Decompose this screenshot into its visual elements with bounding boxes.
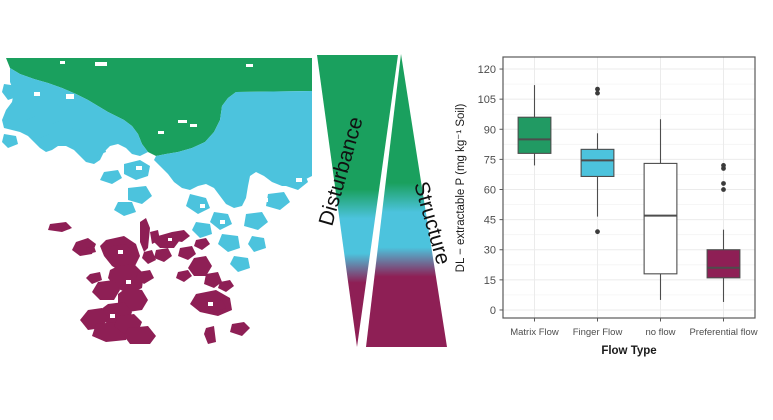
y-tick-label: 90 [484, 124, 496, 136]
outlier-point [721, 181, 726, 186]
x-tick-label-matrix-flow: Matrix Flow [510, 327, 559, 338]
y-tick-label: 0 [490, 305, 496, 317]
y-axis-title: DL − extractable P (mg kg⁻¹ Soil) [455, 103, 467, 272]
y-tick-label: 30 [484, 245, 496, 257]
y-tick-label: 15 [484, 275, 496, 287]
y-tick-label: 120 [478, 64, 496, 76]
boxplot-chart-panel: 0153045607590105120 Matrix FlowFinger Fl… [452, 40, 770, 370]
y-tick-label: 105 [478, 94, 496, 106]
y-tick-label: 60 [484, 185, 496, 197]
y-tick-label: 45 [484, 215, 496, 227]
x-tick-label-preferential-flow: Preferential flow [689, 327, 757, 338]
box [644, 163, 677, 273]
outlier-point [595, 229, 600, 234]
classified-raster-map-panel [0, 36, 312, 344]
map-svg [0, 36, 312, 344]
box [707, 250, 740, 278]
outlier-point [721, 163, 726, 168]
boxplot-svg: 0153045607590105120 Matrix FlowFinger Fl… [452, 40, 770, 370]
figure-root: Disturbance Structure 015304560759010512… [0, 0, 773, 420]
x-tick-label-finger-flow: Finger Flow [573, 327, 623, 338]
y-tick-label: 75 [484, 154, 496, 166]
outlier-point [721, 187, 726, 192]
x-axis-title: Flow Type [601, 345, 656, 357]
box [581, 149, 614, 176]
plot-panel [503, 57, 755, 318]
x-tick-label-no-flow: no flow [645, 327, 675, 338]
triangles-svg: Disturbance Structure [296, 44, 456, 359]
box [518, 117, 551, 153]
outlier-point [595, 87, 600, 92]
gradient-triangles-panel: Disturbance Structure [296, 44, 456, 359]
